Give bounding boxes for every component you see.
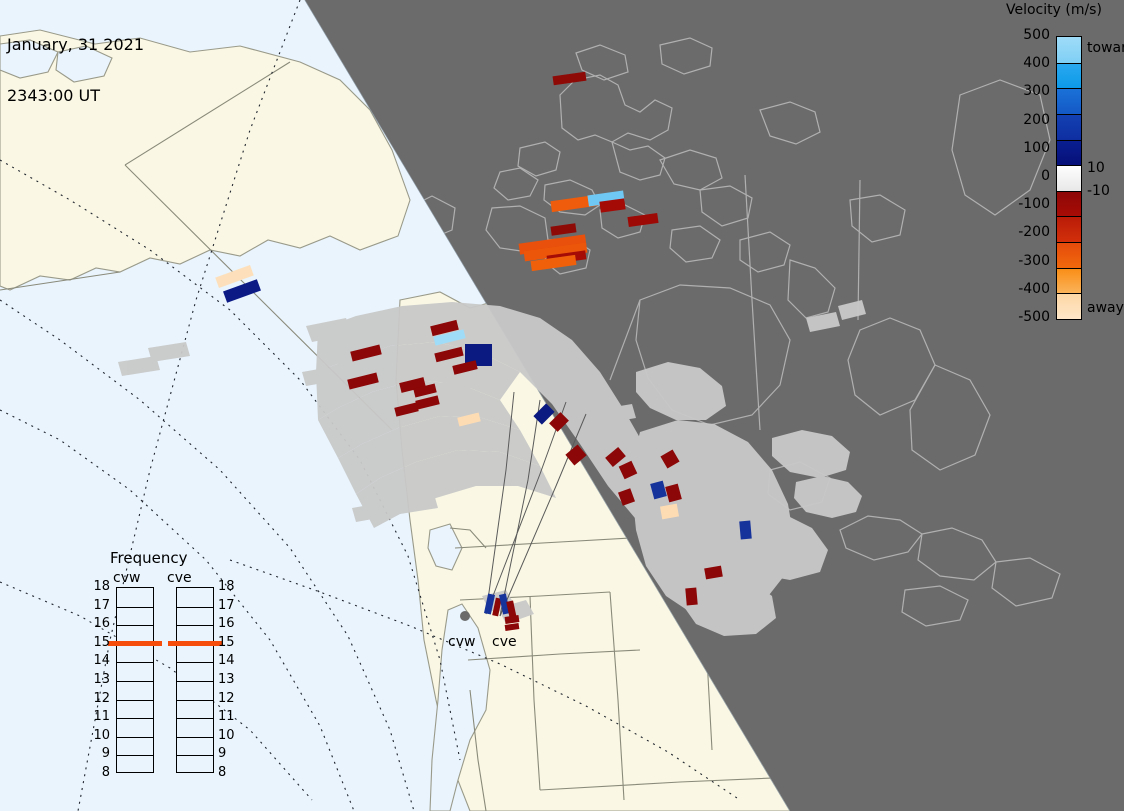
frequency-scale-right-16: 16 bbox=[218, 616, 235, 631]
frequency-marker-cvw bbox=[108, 641, 162, 646]
velocity-cell bbox=[685, 588, 697, 606]
velocity-cell bbox=[605, 447, 626, 467]
velocity-cell bbox=[394, 402, 418, 416]
colorbar-tick-500: 500 bbox=[990, 27, 1050, 43]
colorbar-segment bbox=[1057, 191, 1081, 217]
colorbar-divider bbox=[1057, 293, 1081, 294]
velocity-cell bbox=[553, 72, 587, 86]
title-date: January, 31 2021 bbox=[7, 36, 144, 53]
station-label-cve: cve bbox=[492, 634, 517, 650]
colorbar-divider bbox=[1057, 242, 1081, 243]
colorbar-tick-0: 0 bbox=[990, 168, 1050, 184]
velocity-cell bbox=[660, 449, 679, 468]
frequency-tick bbox=[117, 662, 153, 663]
colorbar-divider bbox=[1057, 216, 1081, 217]
frequency-tick bbox=[117, 700, 153, 701]
frequency-tick bbox=[177, 662, 213, 663]
velocity-cell bbox=[350, 345, 382, 362]
velocity-cell bbox=[619, 461, 638, 480]
timestamp-title: January, 31 2021 2343:00 UT bbox=[7, 2, 144, 138]
frequency-bar-cve bbox=[176, 587, 214, 773]
velocity-cell bbox=[505, 615, 520, 624]
frequency-tick bbox=[177, 737, 213, 738]
frequency-tick bbox=[117, 681, 153, 682]
frequency-bar-cvw bbox=[116, 587, 154, 773]
frequency-scale-right-17: 17 bbox=[218, 598, 235, 613]
velocity-cell bbox=[739, 521, 752, 540]
colorbar-tick-100: 100 bbox=[990, 140, 1050, 156]
frequency-scale-right-11: 11 bbox=[218, 709, 235, 724]
frequency-tick bbox=[177, 700, 213, 701]
frequency-scale-left-18: 18 bbox=[86, 579, 110, 594]
velocity-cell bbox=[549, 412, 569, 432]
frequency-scale-left-8: 8 bbox=[86, 765, 110, 780]
frequency-scale-right-13: 13 bbox=[218, 672, 235, 687]
colorbar-tick--400: -400 bbox=[990, 281, 1050, 297]
colorbar-segment bbox=[1057, 165, 1081, 191]
radar-map-screenshot: January, 31 2021 2343:00 UT Velocity (m/… bbox=[0, 0, 1124, 811]
frequency-tick bbox=[117, 737, 153, 738]
colorbar-tick--500: -500 bbox=[990, 309, 1050, 325]
frequency-legend-title: Frequency bbox=[110, 549, 188, 567]
colorbar-tick-300: 300 bbox=[990, 83, 1050, 99]
colorbar-segment bbox=[1057, 63, 1081, 89]
colorbar-title: Velocity (m/s) bbox=[1006, 2, 1102, 18]
colorbar-away-label: away bbox=[1087, 300, 1124, 316]
colorbar-tick--100: -100 bbox=[990, 196, 1050, 212]
frequency-scale-left-14: 14 bbox=[86, 653, 110, 668]
colorbar-tick-400: 400 bbox=[990, 55, 1050, 71]
colorbar-divider bbox=[1057, 165, 1081, 166]
frequency-scale-left-10: 10 bbox=[86, 728, 110, 743]
frequency-scale-right-14: 14 bbox=[218, 653, 235, 668]
frequency-tick bbox=[177, 681, 213, 682]
colorbar-toward-label: toward bbox=[1087, 40, 1124, 56]
frequency-tick bbox=[177, 625, 213, 626]
frequency-bar-label-cve: cve bbox=[167, 570, 192, 586]
colorbar-tick--200: -200 bbox=[990, 224, 1050, 240]
colorbar-divider bbox=[1057, 140, 1081, 141]
frequency-bar-label-cvw: cvw bbox=[113, 570, 140, 586]
frequency-tick bbox=[117, 755, 153, 756]
colorbar-divider bbox=[1057, 191, 1081, 192]
frequency-tick bbox=[177, 718, 213, 719]
frequency-scale-left-13: 13 bbox=[86, 672, 110, 687]
colorbar-negative-min-label: -10 bbox=[1087, 183, 1110, 199]
station-label-cvw: cvw bbox=[448, 634, 475, 650]
frequency-tick bbox=[117, 625, 153, 626]
colorbar-divider bbox=[1057, 88, 1081, 89]
colorbar-segment bbox=[1057, 216, 1081, 242]
frequency-scale-right-9: 9 bbox=[218, 746, 226, 761]
colorbar-segment bbox=[1057, 268, 1081, 294]
velocity-cell bbox=[505, 623, 520, 631]
velocity-cell bbox=[415, 395, 439, 409]
frequency-scale-left-9: 9 bbox=[86, 746, 110, 761]
frequency-scale-left-17: 17 bbox=[86, 598, 110, 613]
frequency-scale-left-15: 15 bbox=[86, 635, 110, 650]
velocity-cell bbox=[704, 566, 723, 580]
frequency-scale-right-12: 12 bbox=[218, 691, 235, 706]
velocity-cell bbox=[618, 488, 635, 506]
velocity-cells-layer bbox=[0, 0, 1124, 811]
colorbar-segment bbox=[1057, 242, 1081, 268]
velocity-cell bbox=[434, 347, 463, 363]
frequency-scale-left-12: 12 bbox=[86, 691, 110, 706]
colorbar-divider bbox=[1057, 268, 1081, 269]
colorbar-segment bbox=[1057, 114, 1081, 140]
velocity-cell bbox=[347, 373, 379, 390]
colorbar-tick-200: 200 bbox=[990, 112, 1050, 128]
frequency-tick bbox=[177, 755, 213, 756]
frequency-tick bbox=[177, 607, 213, 608]
frequency-scale-right-10: 10 bbox=[218, 728, 235, 743]
colorbar-segment bbox=[1057, 37, 1081, 63]
velocity-colorbar bbox=[1056, 36, 1082, 320]
frequency-tick bbox=[117, 718, 153, 719]
colorbar-positive-min-label: 10 bbox=[1087, 160, 1105, 176]
velocity-cell bbox=[457, 412, 481, 426]
colorbar-divider bbox=[1057, 63, 1081, 64]
frequency-marker-cve bbox=[168, 641, 222, 646]
colorbar-segment bbox=[1057, 88, 1081, 114]
velocity-cell bbox=[650, 481, 667, 500]
frequency-scale-right-15: 15 bbox=[218, 635, 235, 650]
colorbar-segment bbox=[1057, 140, 1081, 166]
velocity-cell bbox=[627, 213, 658, 227]
velocity-cell bbox=[565, 444, 586, 465]
velocity-cell bbox=[550, 223, 576, 235]
title-time: 2343:00 UT bbox=[7, 87, 144, 104]
frequency-scale-left-16: 16 bbox=[86, 616, 110, 631]
velocity-cell bbox=[665, 484, 682, 503]
frequency-scale-left-11: 11 bbox=[86, 709, 110, 724]
velocity-cell bbox=[660, 504, 679, 520]
colorbar-divider bbox=[1057, 114, 1081, 115]
frequency-scale-right-8: 8 bbox=[218, 765, 226, 780]
colorbar-segment bbox=[1057, 293, 1081, 319]
colorbar-tick--300: -300 bbox=[990, 253, 1050, 269]
frequency-scale-right-18: 18 bbox=[218, 579, 235, 594]
frequency-tick bbox=[117, 607, 153, 608]
